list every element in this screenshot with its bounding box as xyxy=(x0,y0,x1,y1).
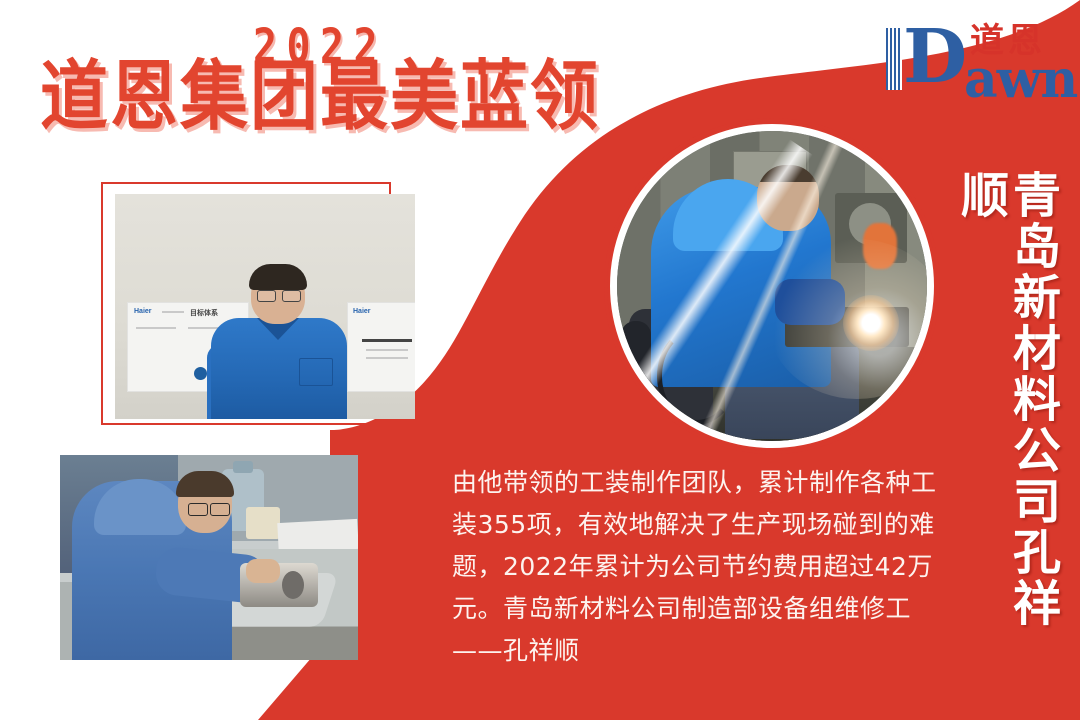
page-title: 道恩集团最美蓝领 xyxy=(0,58,640,139)
logo-letter-d: D xyxy=(903,26,965,88)
welding-photo xyxy=(610,124,934,448)
logo-chinese-name: 道恩 xyxy=(970,24,1046,58)
portrait-photo: Haier 目标体系 Haier xyxy=(115,194,415,419)
worker-glasses-left xyxy=(188,503,208,516)
worker-glasses-right xyxy=(210,503,230,516)
brand-logo[interactable]: D awn 道恩 xyxy=(886,18,1056,98)
subject-name-vertical: 青岛新材料公司孔祥顺 xyxy=(992,170,1058,670)
subject-glasses-left xyxy=(257,290,276,302)
welding-arc-spark xyxy=(843,295,899,351)
subject-hair xyxy=(249,264,307,290)
logo-d-group: D xyxy=(886,26,965,90)
board-heading: 目标体系 xyxy=(190,308,218,318)
worker-hair xyxy=(176,471,234,497)
worker-hand xyxy=(246,559,280,583)
logo-stripes-icon xyxy=(886,28,902,90)
material-roll-core xyxy=(282,571,304,599)
citation-text: 由他带领的工装制作团队，累计制作各种工装355项，有效地解决了生产现场碰到的难题… xyxy=(452,462,942,672)
logo-letters-awn: awn xyxy=(964,58,1077,102)
poster-board-right: Haier xyxy=(347,302,415,392)
paper-stack xyxy=(277,519,358,553)
poster-canvas: 2022 道恩集团最美蓝领 D awn 道恩 Haier 目标体系 xyxy=(0,0,1080,720)
bottle xyxy=(246,507,280,539)
workbench-photo xyxy=(60,455,358,660)
water-jug-cap xyxy=(233,461,253,473)
subject-glasses-right xyxy=(282,290,301,302)
subject-pocket xyxy=(299,358,333,386)
haier-label: Haier xyxy=(134,308,152,315)
